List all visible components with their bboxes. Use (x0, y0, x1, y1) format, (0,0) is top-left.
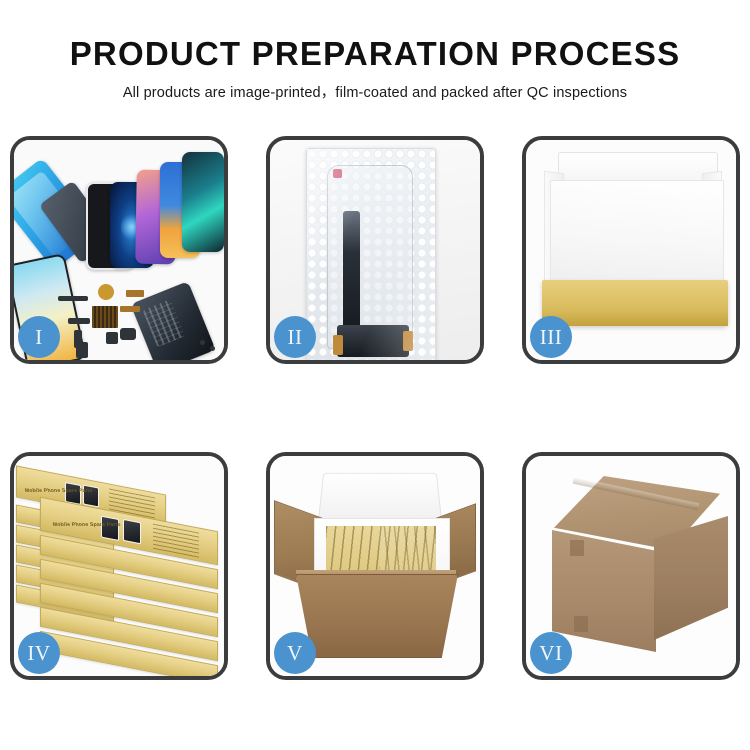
foam-insert (550, 180, 724, 286)
page-title: PRODUCT PREPARATION PROCESS (0, 36, 750, 72)
phone-teal-wallpaper (182, 152, 224, 252)
process-step-grid: I II III (10, 136, 740, 681)
screen-flex-cable (343, 211, 360, 329)
part-screws (200, 340, 205, 345)
part-strip (58, 296, 88, 301)
screen-label-sticker (333, 169, 342, 178)
bubble-wrap-bag (306, 148, 436, 360)
process-step-panel-6: VI (522, 452, 740, 680)
page-subtitle: All products are image-printed，film-coat… (0, 81, 750, 102)
step-badge-6: VI (530, 632, 572, 674)
process-step-panel-5: V (266, 452, 484, 680)
part-speaker (120, 328, 136, 340)
process-step-panel-4: Mobile Phone Spare Parts Mobile Phone Sp… (10, 452, 228, 680)
part-flex-cable (126, 290, 144, 297)
box-label-b: Mobile Phone Spare Parts (52, 522, 121, 528)
step-badge-4: IV (18, 632, 60, 674)
process-step-panel-2: II (266, 136, 484, 364)
process-step-panel-1: I (10, 136, 228, 364)
carton-tape-mark-bottom (574, 616, 588, 632)
step-badge-5: V (274, 632, 316, 674)
box-label-a: Mobile Phone Spare Parts (24, 488, 93, 494)
part-tray (76, 342, 88, 358)
part-chip-grid (92, 306, 118, 328)
tape-tab-right (403, 331, 413, 351)
step-badge-1: I (18, 316, 60, 358)
carton-tape-mark-top (570, 540, 584, 556)
tape-tab-left (333, 335, 343, 355)
lid-window-b1 (101, 516, 119, 541)
page-header: PRODUCT PREPARATION PROCESS All products… (0, 36, 750, 102)
step-badge-3: III (530, 316, 572, 358)
lid-window-b2 (123, 519, 141, 544)
carton-body (296, 574, 458, 658)
process-step-panel-3: III (522, 136, 740, 364)
part-bracket-a (68, 318, 90, 324)
part-coil-gold (98, 284, 114, 300)
part-flex-cable-2 (120, 306, 140, 312)
gold-tray-front-face (542, 309, 728, 326)
screen-connector-board (337, 325, 409, 357)
wrapped-screen (327, 165, 413, 349)
part-screws-2 (210, 346, 215, 351)
part-bracket-c (106, 332, 118, 344)
lid-spec-lines-b (153, 524, 199, 559)
gold-tray-box (542, 280, 728, 326)
carton-front-face (552, 530, 656, 652)
step-badge-2: II (274, 316, 316, 358)
